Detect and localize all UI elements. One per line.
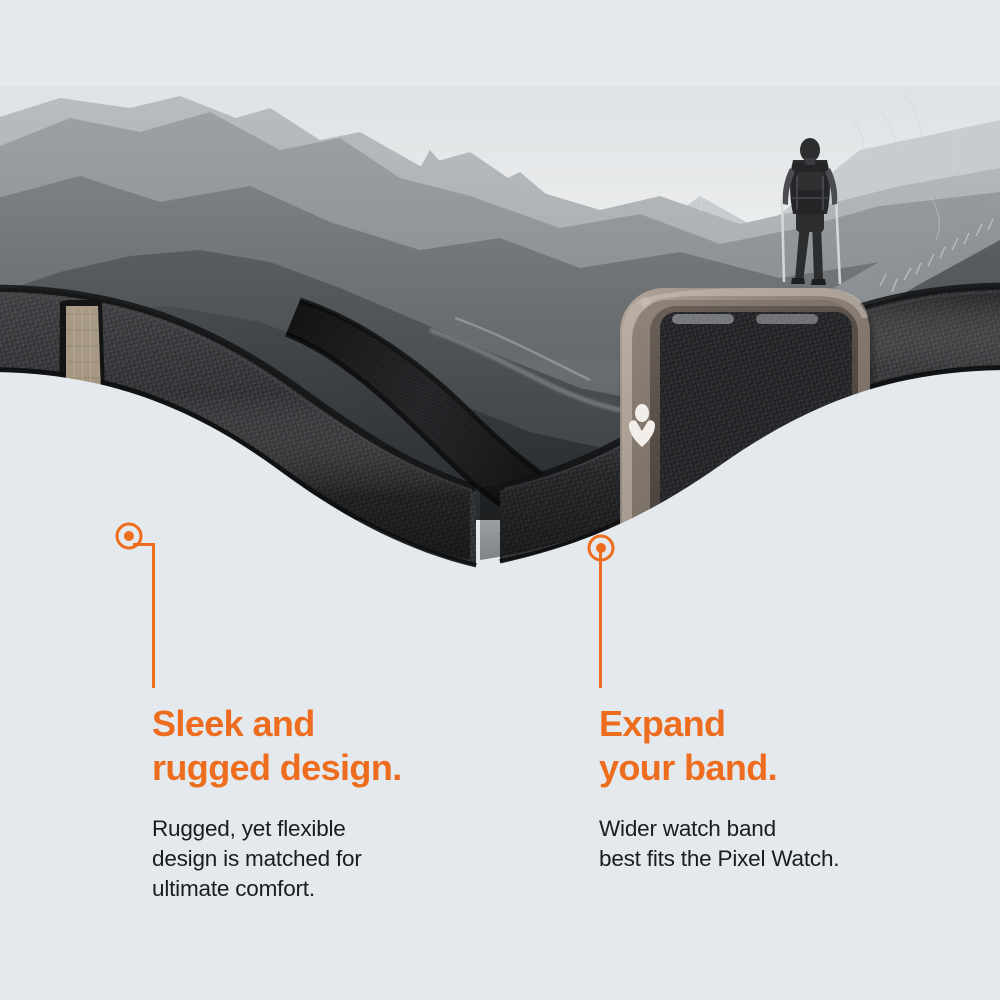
callout-marker-sleek[interactable] [114, 521, 144, 551]
subcopy-sleek: Rugged, yet flexible design is matched f… [152, 814, 552, 904]
headline-expand: Expand your band. [599, 702, 999, 790]
callout-text-expand: Expand your band. Wider watch band best … [599, 702, 999, 874]
callout-line-expand [599, 548, 602, 688]
headline-sleek: Sleek and rugged design. [152, 702, 552, 790]
marketing-panel: Sleek and rugged design. Rugged, yet fle… [0, 0, 1000, 1000]
subcopy-expand: Wider watch band best fits the Pixel Wat… [599, 814, 999, 874]
hero-image [0, 0, 1000, 620]
callout-text-sleek: Sleek and rugged design. Rugged, yet fle… [152, 702, 552, 904]
callout-line-sleek [152, 545, 155, 688]
callout-marker-expand[interactable] [586, 533, 616, 563]
